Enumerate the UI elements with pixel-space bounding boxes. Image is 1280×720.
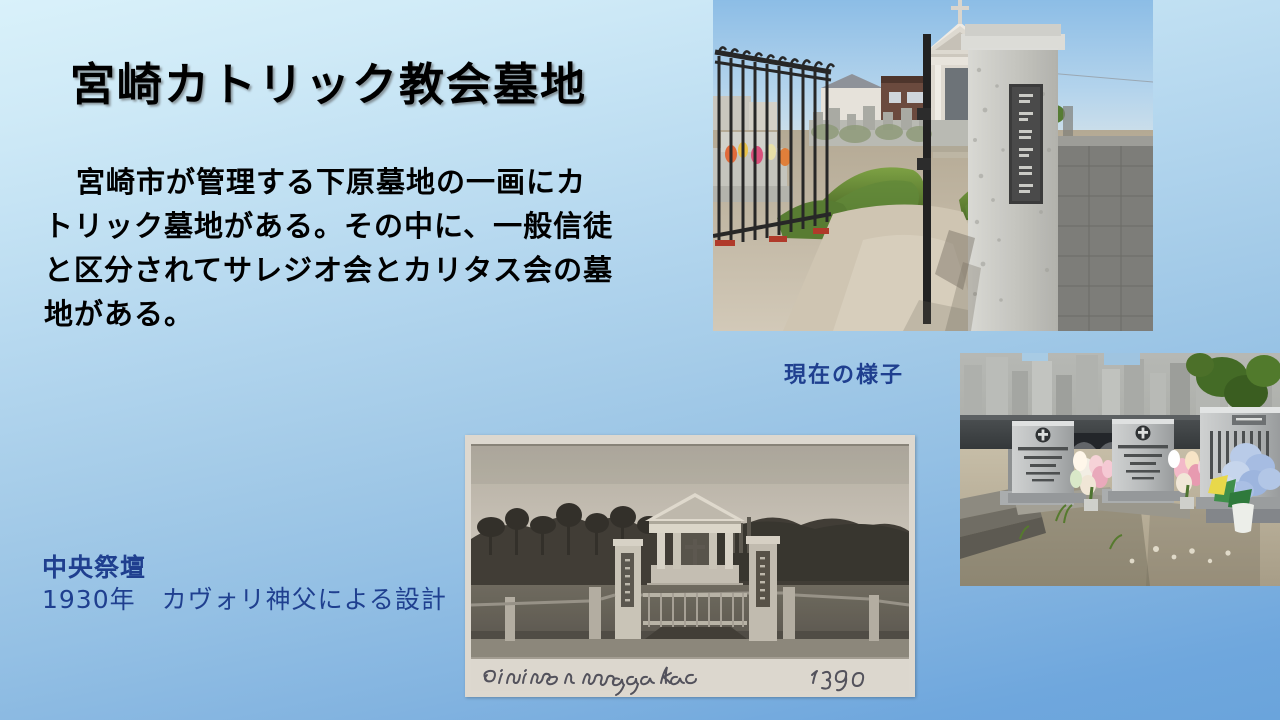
- caption-present-day: 現在の様子: [784, 357, 904, 389]
- page-title: 宮崎カトリック教会墓地: [70, 48, 587, 113]
- caption-altar-detail: 1930年 カヴォリ神父による設計: [42, 584, 447, 616]
- body-paragraph: 宮崎市が管理する下原墓地の一画にカトリック墓地がある。その中に、一般信徒と区分さ…: [44, 160, 614, 336]
- historical-cemetery-photo-1930: [465, 435, 915, 697]
- catholic-cemetery-gate-photo: [713, 0, 1153, 331]
- caption-altar-title: 中央祭壇: [42, 553, 447, 584]
- caption-central-altar: 中央祭壇 1930年 カヴォリ神父による設計: [42, 553, 447, 615]
- gravestones-with-flowers-photo: [960, 353, 1280, 586]
- presentation-slide: 宮崎カトリック教会墓地 宮崎市が管理する下原墓地の一画にカトリック墓地がある。そ…: [0, 0, 1280, 720]
